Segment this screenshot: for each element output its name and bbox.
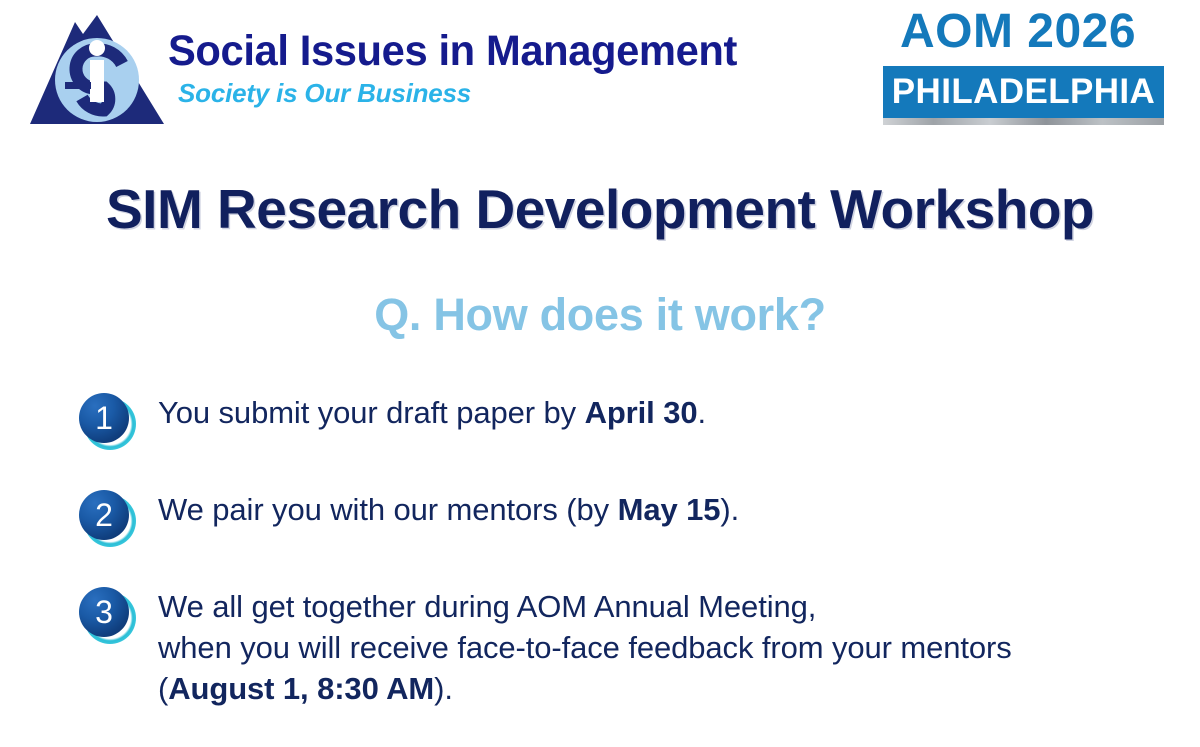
step-text-segment: ( [158, 671, 168, 706]
aom-year-label: AOM 2026 [870, 4, 1166, 60]
step-text-segment: when you will receive face-to-face feedb… [158, 630, 1012, 665]
step-text-emphasis: May 15 [618, 492, 721, 527]
aom-banner-underbar [883, 118, 1164, 125]
step-number-badge-icon: 3 [78, 587, 136, 645]
step-text: We pair you with our mentors (by May 15)… [158, 489, 1200, 530]
slide-header: Social Issues in Management Society is O… [0, 0, 1200, 140]
step-item: 3We all get together during AOM Annual M… [0, 586, 1200, 709]
aom-conference-logo: AOM 2026 PHILADELPHIA [870, 4, 1166, 125]
step-text-segment: We pair you with our mentors (by [158, 492, 618, 527]
step-text-line: You submit your draft paper by April 30. [158, 392, 1200, 433]
step-item: 1You submit your draft paper by April 30… [0, 392, 1200, 451]
badge-disc: 1 [79, 393, 129, 443]
aom-city-label: PHILADELPHIA [892, 73, 1155, 111]
sim-org-name: Social Issues in Management [168, 26, 750, 76]
step-item: 2We pair you with our mentors (by May 15… [0, 489, 1200, 548]
sim-logo-icon [27, 12, 167, 127]
aom-city-banner: PHILADELPHIA [883, 66, 1164, 118]
sim-wordmark: Social Issues in Management Society is O… [168, 26, 768, 108]
step-text-segment: . [697, 395, 706, 430]
step-text-line: when you will receive face-to-face feedb… [158, 627, 1200, 668]
step-text-line: We pair you with our mentors (by May 15)… [158, 489, 1200, 530]
step-number-label: 3 [95, 596, 113, 628]
step-text-line: We all get together during AOM Annual Me… [158, 586, 1200, 627]
step-text-segment: You submit your draft paper by [158, 395, 585, 430]
step-text-segment: We all get together during AOM Annual Me… [158, 589, 816, 624]
step-text-segment: ). [720, 492, 739, 527]
badge-disc: 3 [79, 587, 129, 637]
step-number-badge-icon: 2 [78, 490, 136, 548]
sim-tagline: Society is Our Business [178, 78, 768, 108]
step-number-badge-icon: 1 [78, 393, 136, 451]
page-title: SIM Research Development Workshop [0, 176, 1200, 242]
step-text: We all get together during AOM Annual Me… [158, 586, 1200, 709]
step-number-label: 1 [95, 402, 113, 434]
steps-list: 1You submit your draft paper by April 30… [0, 392, 1200, 747]
step-text: You submit your draft paper by April 30. [158, 392, 1200, 433]
step-text-emphasis: August 1, 8:30 AM [168, 671, 434, 706]
badge-disc: 2 [79, 490, 129, 540]
step-number-label: 2 [95, 499, 113, 531]
question-heading: Q. How does it work? [0, 288, 1200, 342]
step-text-emphasis: April 30 [585, 395, 698, 430]
step-text-line: (August 1, 8:30 AM). [158, 668, 1200, 709]
step-text-segment: ). [434, 671, 453, 706]
